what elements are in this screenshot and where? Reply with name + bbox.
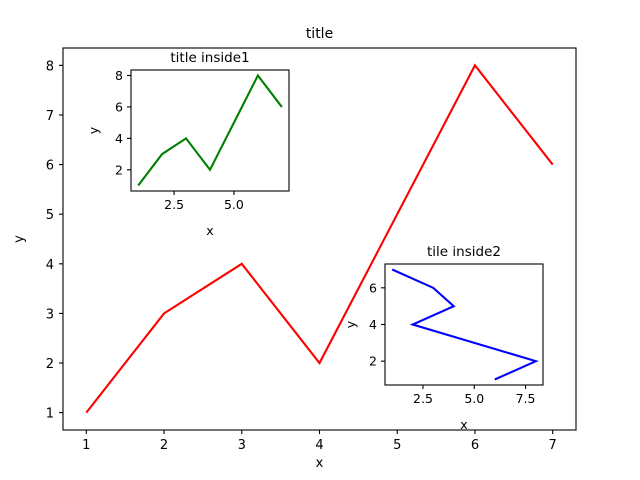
main-xtick-label: 4 bbox=[315, 438, 323, 453]
inset1-xaxis-label: x bbox=[206, 223, 213, 238]
inset1-axes-background bbox=[131, 70, 289, 191]
main-ytick-label: 6 bbox=[46, 159, 54, 174]
inset1-ytick-label: 6 bbox=[115, 99, 123, 114]
matplotlib-figure: 123456712345678xytitle2.55.02468xytitle … bbox=[0, 0, 640, 480]
main-xtick-label: 5 bbox=[393, 438, 401, 453]
inset2-ytick-label: 4 bbox=[369, 317, 377, 332]
inset1-xtick-label: 2.5 bbox=[164, 197, 184, 212]
inset2-ytick-label: 6 bbox=[369, 280, 377, 295]
main-xtick-label: 3 bbox=[238, 438, 246, 453]
inset1-title: title inside1 bbox=[170, 50, 249, 66]
main-xaxis-label: x bbox=[316, 456, 324, 471]
main-xtick-label: 1 bbox=[82, 438, 90, 453]
inset2-xtick-label: 7.5 bbox=[516, 391, 536, 406]
inset2-yaxis-label: y bbox=[343, 320, 358, 328]
main-ytick-label: 5 bbox=[46, 208, 54, 223]
main-ytick-label: 2 bbox=[46, 357, 54, 372]
main-xtick-label: 6 bbox=[471, 438, 479, 453]
main-ytick-label: 8 bbox=[46, 59, 54, 74]
main-title: title bbox=[306, 26, 333, 42]
inset2-xtick-label: 5.0 bbox=[464, 391, 484, 406]
inset1-ytick-label: 4 bbox=[115, 131, 123, 146]
inset2-ytick-label: 2 bbox=[369, 354, 377, 369]
inset1-ytick-label: 8 bbox=[115, 68, 123, 83]
main-xtick-label: 7 bbox=[549, 438, 557, 453]
main-ytick-label: 3 bbox=[46, 307, 54, 322]
main-ytick-label: 1 bbox=[46, 407, 54, 422]
inset2-xaxis-label: x bbox=[460, 417, 467, 432]
inset1-ytick-label: 2 bbox=[115, 162, 123, 177]
inset2-xtick-label: 2.5 bbox=[413, 391, 433, 406]
inset2-axes-background bbox=[385, 264, 543, 385]
main-xtick-label: 2 bbox=[160, 438, 168, 453]
main-yaxis-label: y bbox=[12, 235, 27, 243]
inset2-title: tile inside2 bbox=[427, 244, 501, 260]
main-ytick-label: 4 bbox=[46, 258, 54, 273]
inset1-xtick-label: 5.0 bbox=[224, 197, 244, 212]
inset1-yaxis-label: y bbox=[86, 126, 101, 134]
figure-canvas: 123456712345678xytitle2.55.02468xytitle … bbox=[0, 0, 640, 480]
main-ytick-label: 7 bbox=[46, 109, 54, 124]
